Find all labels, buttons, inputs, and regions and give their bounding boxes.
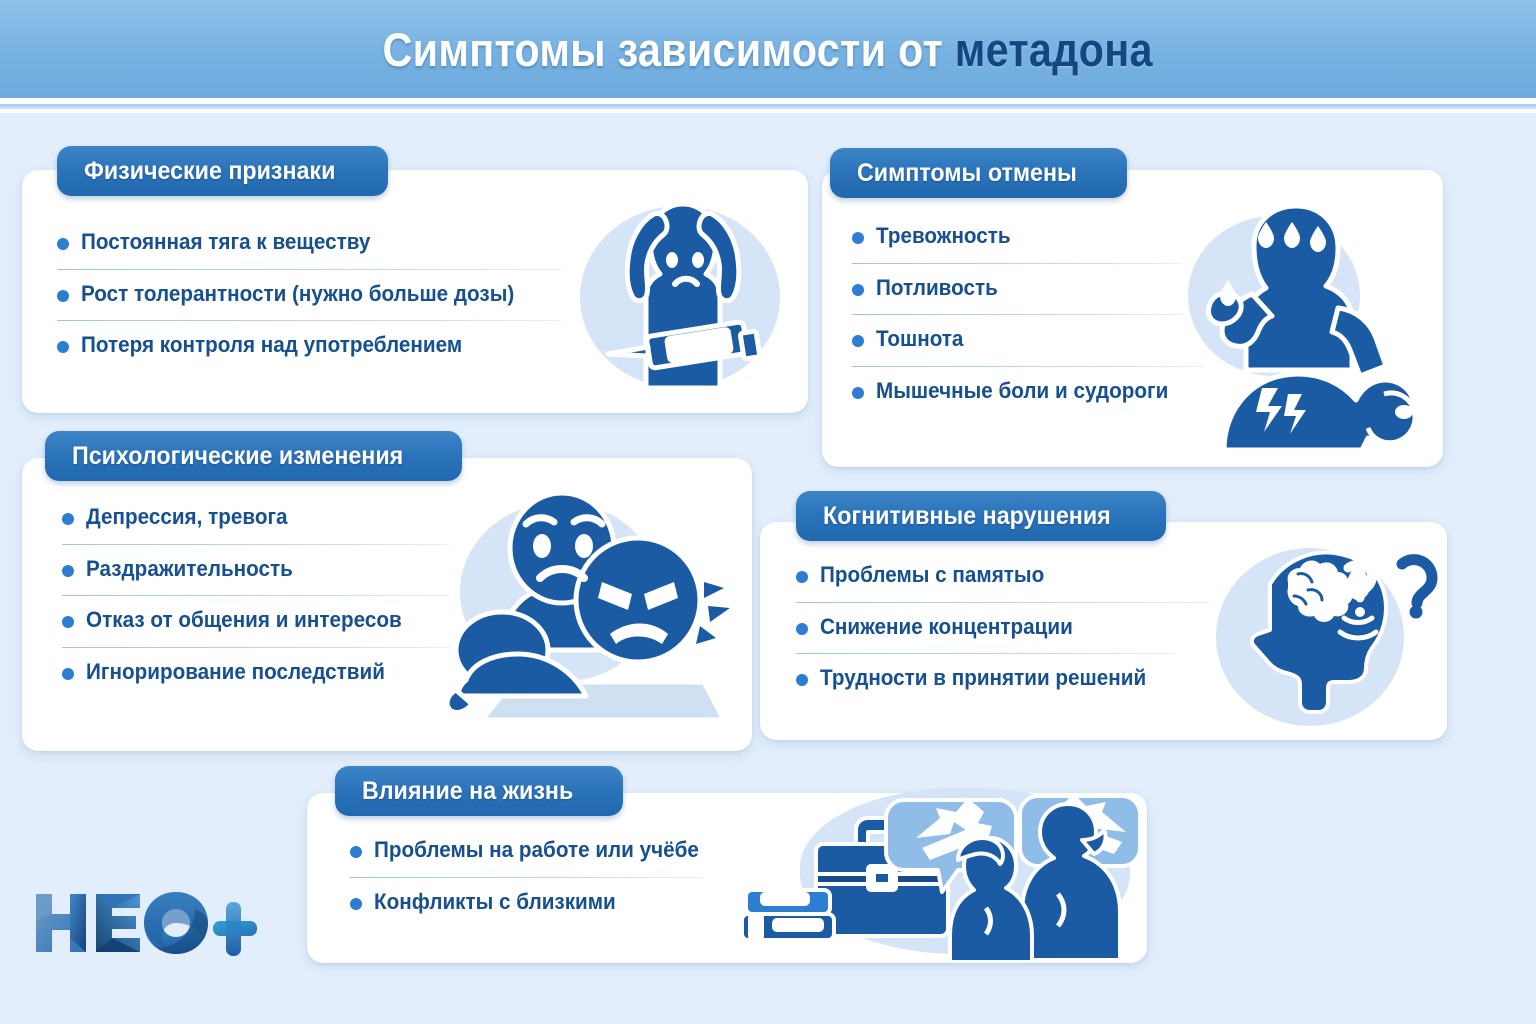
list-item-label: Проблемы на работе или учёбе <box>374 838 699 863</box>
list-item-label: Потеря контроля над употреблением <box>81 333 462 358</box>
list-divider <box>62 595 450 596</box>
list-divider <box>62 544 450 545</box>
list-item: Игнорирование последствий <box>62 658 450 691</box>
card-life-impact-header: Влияние на жизнь <box>335 766 623 816</box>
list-item-label: Тревожность <box>876 224 1011 249</box>
list-item-label: Проблемы с памятыо <box>820 563 1044 588</box>
bullet-dot-icon <box>852 335 864 347</box>
list-item-label: Конфликты с близкими <box>374 890 616 915</box>
list-item: Потеря контроля над употреблением <box>57 331 562 364</box>
bullet-dot-icon <box>852 284 864 296</box>
list-item-label: Отказ от общения и интересов <box>86 608 402 633</box>
list-divider <box>796 602 1210 603</box>
list-item: Трудности в принятии решений <box>796 664 1210 697</box>
head-profile-brain-question-icon <box>1212 540 1440 732</box>
card-psychological-changes-title: Психологические изменения <box>72 442 403 471</box>
list-item: Тошнота <box>852 325 1182 367</box>
list-item: Конфликты с близкими <box>350 888 740 921</box>
list-item: Постоянная тяга к веществу <box>57 228 562 270</box>
list-divider <box>852 366 1204 367</box>
bullet-dot-icon <box>62 616 74 628</box>
list-divider <box>57 320 562 321</box>
card-withdrawal-symptoms-list: Тревожность Потливость Тошнота Мышечные … <box>852 222 1182 410</box>
list-item: Потливость <box>852 274 1182 316</box>
list-divider <box>62 647 450 648</box>
header-divider-white-bottom <box>0 109 1536 113</box>
card-withdrawal-symptoms-header: Симптомы отмены <box>830 148 1127 198</box>
bullet-dot-icon <box>796 674 808 686</box>
card-life-impact-title: Влияние на жизнь <box>362 777 573 806</box>
briefcase-books-conflict-people-icon <box>740 782 1140 960</box>
list-item: Мышечные боли и судороги <box>852 377 1182 410</box>
bullet-dot-icon <box>62 513 74 525</box>
list-item-label: Депрессия, тревога <box>86 505 288 530</box>
sweating-person-in-pain-icon <box>1188 198 1440 453</box>
list-item-label: Потливость <box>876 276 998 301</box>
list-divider <box>852 314 1182 315</box>
list-item: Депрессия, тревога <box>62 503 450 545</box>
list-item-label: Рост толерантности (нужно больше дозы) <box>81 282 514 307</box>
card-life-impact-list: Проблемы на работе или учёбе Конфликты с… <box>350 836 740 920</box>
card-cognitive-impairment-list: Проблемы с памятыо Снижение концентрации… <box>796 561 1210 697</box>
bullet-dot-icon <box>57 238 69 250</box>
page-header: Симптомы зависимости от метадона <box>0 0 1536 98</box>
bullet-dot-icon <box>852 232 864 244</box>
bullet-dot-icon <box>350 846 362 858</box>
bullet-dot-icon <box>796 623 808 635</box>
list-item-label: Постоянная тяга к веществу <box>81 230 370 255</box>
neo-plus-logo[interactable] <box>30 888 260 958</box>
card-psychological-changes-header: Психологические изменения <box>45 431 462 481</box>
list-item: Снижение концентрации <box>796 613 1210 655</box>
bullet-dot-icon <box>57 341 69 353</box>
card-cognitive-impairment-title: Когнитивные нарушения <box>823 502 1111 531</box>
list-item-label: Мышечные боли и судороги <box>876 379 1168 404</box>
page-title-main: Симптомы зависимости от <box>383 23 955 76</box>
list-item: Отказ от общения и интересов <box>62 606 450 648</box>
bullet-dot-icon <box>796 571 808 583</box>
list-item-label: Раздражительность <box>86 557 293 582</box>
list-item: Проблемы с памятыо <box>796 561 1210 603</box>
list-item: Проблемы на работе или учёбе <box>350 836 740 878</box>
list-divider <box>852 263 1182 264</box>
bullet-dot-icon <box>62 668 74 680</box>
list-divider <box>57 269 562 270</box>
card-physical-signs-list: Постоянная тяга к веществу Рост толерант… <box>57 228 562 364</box>
list-item-label: Трудности в принятии решений <box>820 666 1146 691</box>
stressed-person-with-syringe-icon <box>572 196 794 396</box>
bullet-dot-icon <box>350 898 362 910</box>
list-divider <box>350 877 702 878</box>
bullet-dot-icon <box>852 387 864 399</box>
page-title-accent: метадона <box>955 23 1153 76</box>
sad-and-angry-faces-icon <box>442 490 732 725</box>
page-title: Симптомы зависимости от метадона <box>383 22 1153 77</box>
list-item-label: Игнорирование последствий <box>86 660 385 685</box>
list-item: Раздражительность <box>62 555 450 597</box>
bullet-dot-icon <box>57 290 69 302</box>
card-physical-signs-header: Физические признаки <box>57 146 388 196</box>
card-cognitive-impairment-header: Когнитивные нарушения <box>796 491 1166 541</box>
list-item: Тревожность <box>852 222 1182 264</box>
card-physical-signs-title: Физические признаки <box>84 157 335 186</box>
list-divider <box>796 653 1174 654</box>
list-item-label: Тошнота <box>876 327 963 352</box>
list-item: Рост толерантности (нужно больше дозы) <box>57 280 562 322</box>
bullet-dot-icon <box>62 565 74 577</box>
card-withdrawal-symptoms-title: Симптомы отмены <box>857 159 1077 188</box>
list-item-label: Снижение концентрации <box>820 615 1073 640</box>
card-psychological-changes-list: Депрессия, тревога Раздражительность Отк… <box>62 503 450 691</box>
